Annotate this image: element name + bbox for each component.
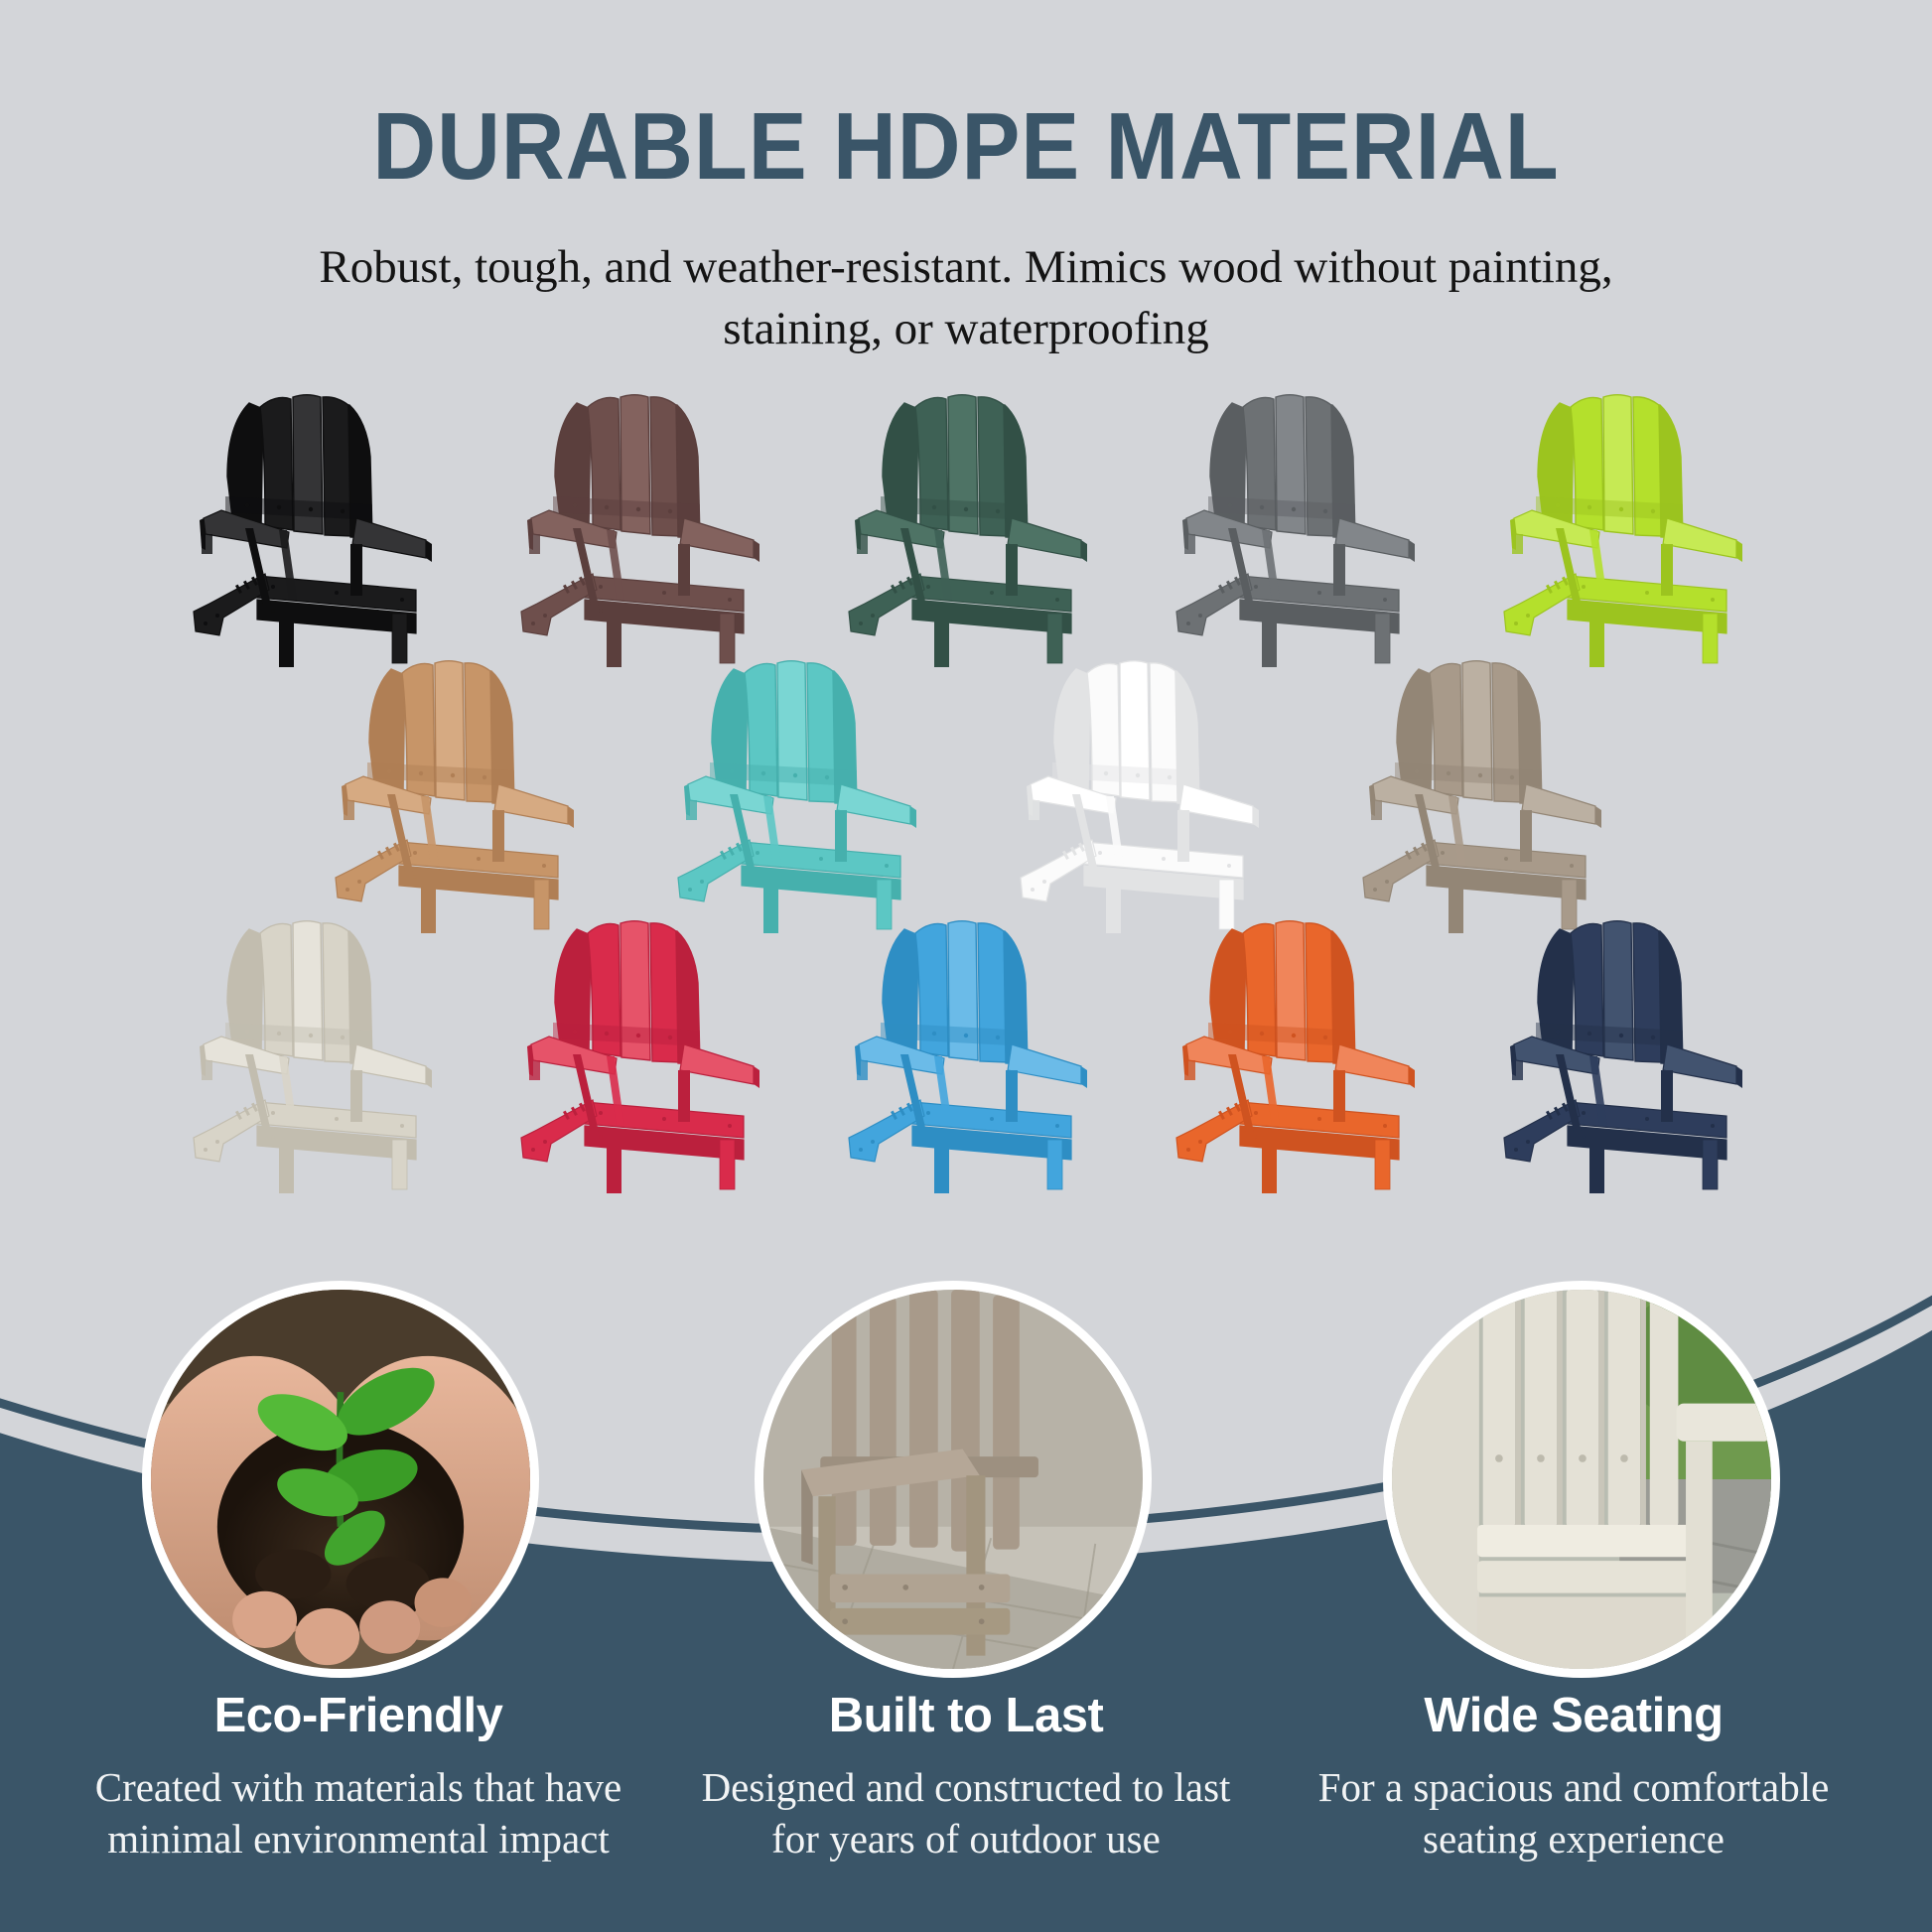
chair-swatch-dark-green[interactable]: [802, 369, 1130, 667]
page-title: DURABLE HDPE MATERIAL: [77, 0, 1855, 195]
feature-body: For a spacious and comfortable seating e…: [1284, 1743, 1863, 1865]
feature-card-built-to-last: Built to Last Designed and constructed t…: [662, 1688, 1270, 1865]
chair-swatch-brown[interactable]: [475, 369, 802, 667]
chair-image: [989, 635, 1287, 938]
chair-illustration: [489, 896, 787, 1193]
chair-illustration: [1145, 369, 1443, 667]
chair-row-3: [0, 896, 1932, 1193]
chair-color-grid: [0, 369, 1932, 1283]
chair-image: [646, 635, 944, 938]
feature-photo-circles: [0, 1281, 1932, 1698]
feature-card-eco-friendly: Eco-Friendly Created with materials that…: [55, 1688, 662, 1865]
chair-image: [489, 896, 787, 1198]
feature-captions: Eco-Friendly Created with materials that…: [0, 1688, 1932, 1865]
chair-image: [1331, 635, 1629, 938]
chair-swatch-lime-green[interactable]: [1457, 369, 1785, 667]
built-to-last-photo: [755, 1281, 1152, 1678]
chair-illustration: [1472, 369, 1770, 667]
chair-illustration: [304, 635, 602, 933]
chair-illustration: [646, 635, 944, 933]
chair-illustration: [1472, 896, 1770, 1193]
chair-swatch-ivory[interactable]: [147, 896, 475, 1193]
chair-image: [817, 896, 1115, 1198]
chair-image: [817, 369, 1115, 672]
chair-image: [162, 369, 460, 672]
chair-illustration: [162, 896, 460, 1193]
chair-illustration: [162, 369, 460, 667]
chair-illustration: [817, 896, 1115, 1193]
feature-card-wide-seating: Wide Seating For a spacious and comforta…: [1270, 1688, 1877, 1865]
chair-swatch-sky-blue[interactable]: [802, 896, 1130, 1193]
chair-illustration: [1145, 896, 1443, 1193]
page-subtitle: Robust, tough, and weather-resistant. Mi…: [301, 195, 1631, 359]
chair-swatch-turquoise[interactable]: [623, 635, 966, 933]
chair-row-1: [0, 369, 1932, 667]
chair-image: [1145, 896, 1443, 1198]
chair-image: [489, 369, 787, 672]
chair-illustration: [1331, 635, 1629, 933]
infographic-root: DURABLE HDPE MATERIAL Robust, tough, and…: [0, 0, 1932, 1932]
chair-swatch-gray[interactable]: [1130, 369, 1457, 667]
chair-swatch-orange[interactable]: [1130, 896, 1457, 1193]
chair-swatch-navy-blue[interactable]: [1457, 896, 1785, 1193]
chair-swatch-red[interactable]: [475, 896, 802, 1193]
chair-swatch-weathered-wood[interactable]: [1309, 635, 1651, 933]
chair-image: [1472, 896, 1770, 1198]
feature-title: Built to Last: [676, 1688, 1256, 1743]
header: DURABLE HDPE MATERIAL Robust, tough, and…: [0, 0, 1932, 359]
chair-swatch-white[interactable]: [966, 635, 1309, 933]
feature-title: Wide Seating: [1284, 1688, 1863, 1743]
chair-swatch-black[interactable]: [147, 369, 475, 667]
chair-illustration: [989, 635, 1287, 933]
chair-image: [304, 635, 602, 938]
chair-image: [1472, 369, 1770, 672]
feature-body: Designed and constructed to last for yea…: [676, 1743, 1256, 1865]
feature-title: Eco-Friendly: [69, 1688, 648, 1743]
chair-image: [162, 896, 460, 1198]
feature-body: Created with materials that have minimal…: [69, 1743, 648, 1865]
wide-seating-photo: [1383, 1281, 1780, 1678]
eco-friendly-photo: [142, 1281, 539, 1678]
chair-image: [1145, 369, 1443, 672]
chair-row-2: [0, 635, 1932, 933]
chair-illustration: [817, 369, 1115, 667]
chair-swatch-teak[interactable]: [281, 635, 623, 933]
chair-illustration: [489, 369, 787, 667]
